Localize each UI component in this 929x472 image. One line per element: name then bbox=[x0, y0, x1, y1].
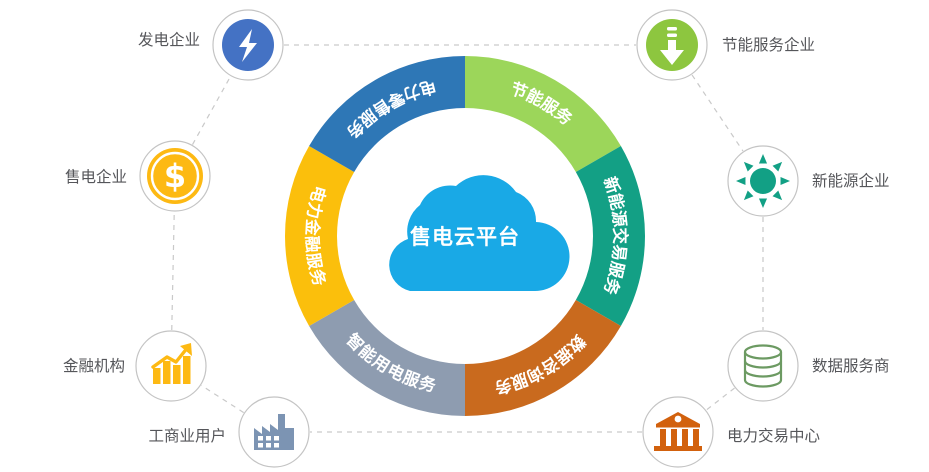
node-industrial-commercial-user[interactable] bbox=[239, 397, 309, 467]
node-label-power-generation-enterprise: 发电企业 bbox=[138, 31, 200, 49]
connector-edge-left-upper bbox=[193, 76, 231, 144]
ring-segment-energy-saving-service[interactable] bbox=[465, 56, 621, 172]
down-arrow-icon bbox=[646, 19, 698, 71]
node-power-generation-enterprise[interactable] bbox=[213, 10, 283, 80]
node-label-industrial-commercial-user: 工商业用户 bbox=[148, 427, 226, 445]
connector-edge-right-upper bbox=[692, 75, 743, 151]
node-electricity-sales-enterprise[interactable]: $ bbox=[140, 141, 210, 211]
node-label-power-trading-center: 电力交易中心 bbox=[727, 427, 820, 445]
connector-edge-bottom-left bbox=[201, 385, 243, 412]
coin-dollar-icon: $ bbox=[147, 148, 203, 204]
node-energy-saving-service-enterprise[interactable] bbox=[637, 10, 707, 80]
ring-segment-new-energy-trading-service[interactable] bbox=[576, 146, 645, 326]
node-label-electricity-sales-enterprise: 售电企业 bbox=[65, 168, 127, 186]
node-label-energy-saving-service-enterprise: 节能服务企业 bbox=[722, 36, 815, 54]
node-power-trading-center[interactable] bbox=[643, 397, 713, 467]
node-data-service-provider[interactable] bbox=[728, 331, 798, 401]
node-circle-financial-institution[interactable] bbox=[136, 331, 206, 401]
ecosystem-wheel-diagram: 节能服务新能源交易服务数据咨询服务智能用电服务电力金融服务电力零售服务 售电云平… bbox=[0, 0, 929, 472]
node-financial-institution[interactable] bbox=[136, 331, 206, 401]
center-cloud: 售电云平台 bbox=[389, 175, 569, 291]
node-label-new-energy-enterprise: 新能源企业 bbox=[812, 172, 890, 190]
ring-segment-data-consulting-service[interactable] bbox=[465, 300, 621, 416]
svg-text:$: $ bbox=[164, 157, 186, 195]
node-label-financial-institution: 金融机构 bbox=[63, 357, 125, 375]
lightning-bolt-icon bbox=[222, 19, 274, 71]
center-label: 售电云平台 bbox=[410, 225, 520, 249]
node-new-energy-enterprise[interactable] bbox=[728, 146, 798, 216]
node-circle-power-trading-center[interactable] bbox=[643, 397, 713, 467]
node-label-data-service-provider: 数据服务商 bbox=[812, 357, 890, 375]
connector-edge-left-lower bbox=[172, 212, 174, 330]
sun-icon bbox=[736, 154, 790, 208]
diagram-canvas: 节能服务新能源交易服务数据咨询服务智能用电服务电力金融服务电力零售服务 售电云平… bbox=[0, 0, 929, 472]
node-circle-data-service-provider[interactable] bbox=[728, 331, 798, 401]
connector-edge-bottom-right bbox=[706, 388, 734, 410]
